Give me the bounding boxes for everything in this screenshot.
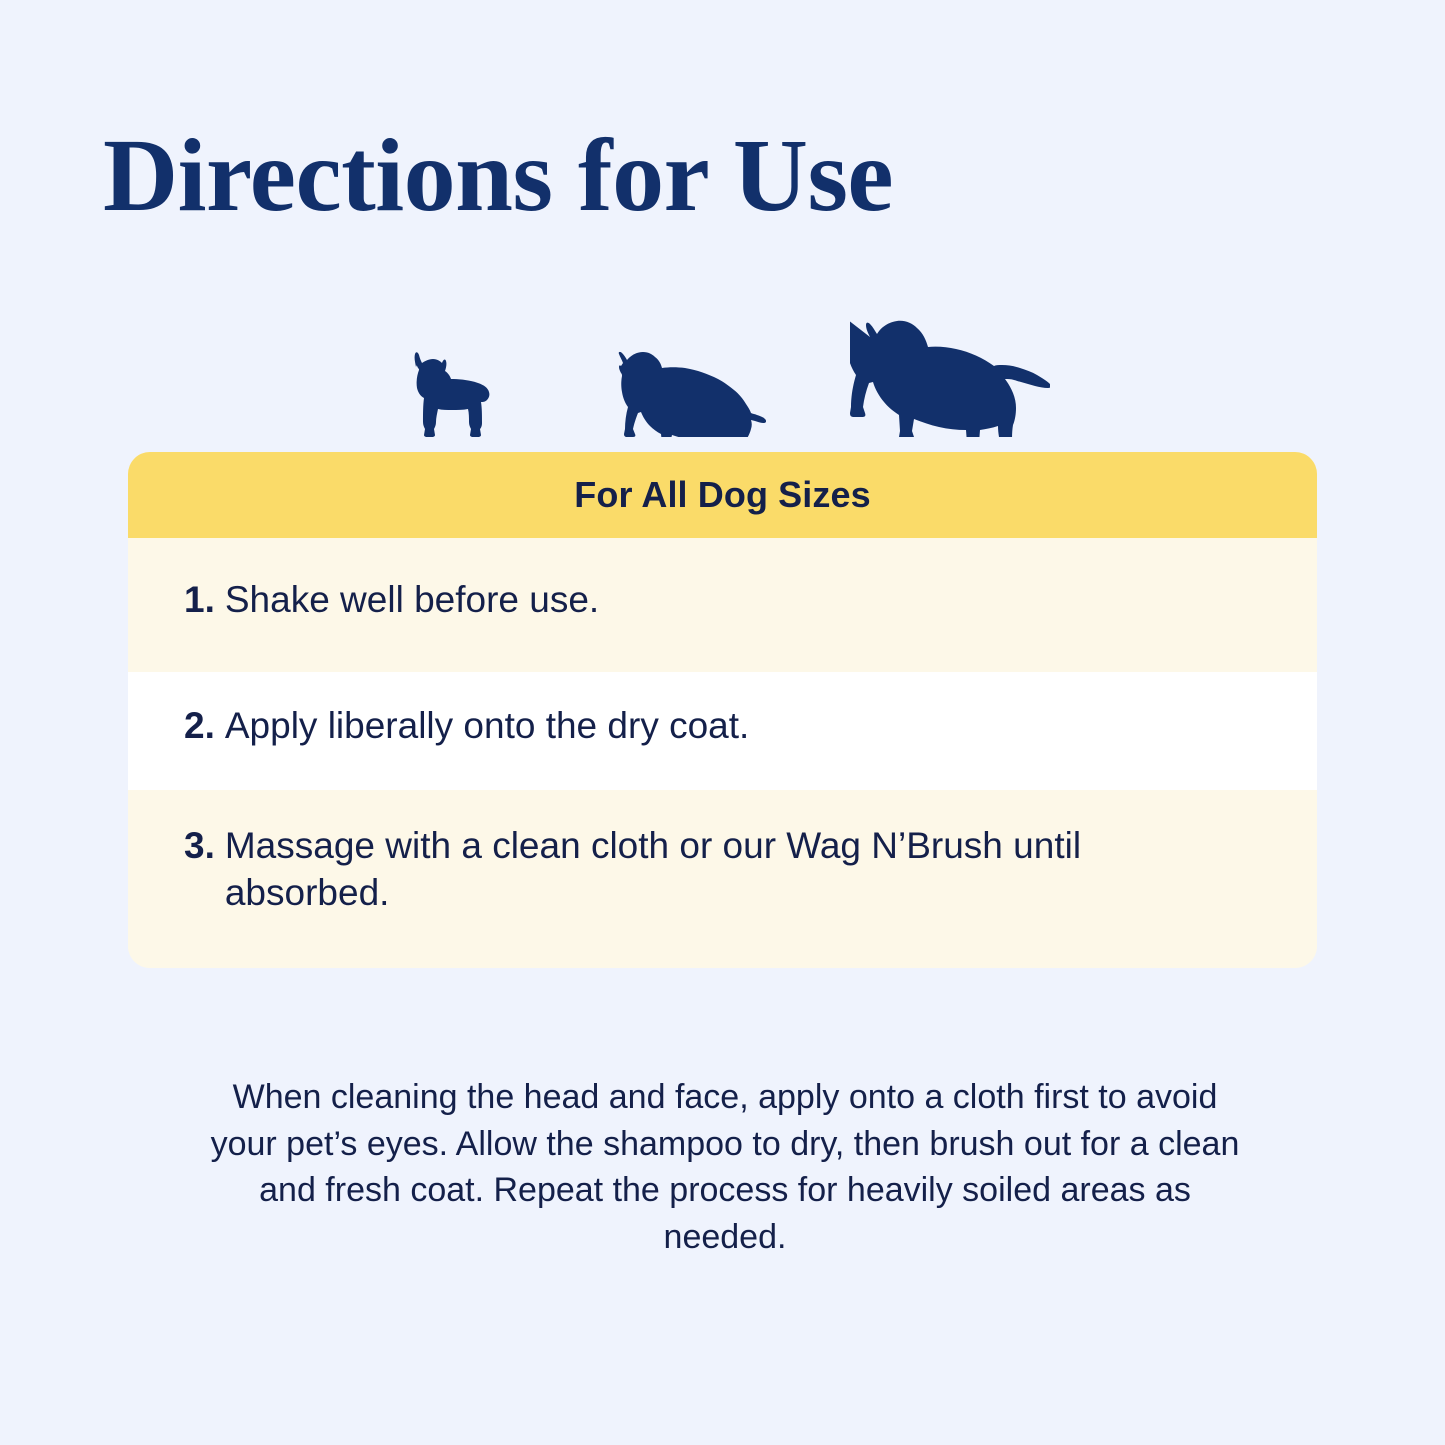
step-number-2: 2. bbox=[184, 702, 215, 749]
step-text-1: Shake well before use. bbox=[225, 576, 1235, 623]
instructions-card: For All Dog Sizes 1. Shake well before u… bbox=[128, 452, 1317, 968]
small-dog-silhouette bbox=[394, 347, 498, 437]
instruction-step-3: 3. Massage with a clean cloth or our Wag… bbox=[128, 790, 1317, 968]
large-dog-silhouette bbox=[850, 309, 1050, 437]
instruction-step-1: 1. Shake well before use. bbox=[128, 538, 1317, 672]
dog-size-illustrations bbox=[128, 292, 1317, 437]
page-title: Directions for Use bbox=[103, 121, 1343, 230]
card-header: For All Dog Sizes bbox=[128, 452, 1317, 538]
step-number-3: 3. bbox=[184, 822, 215, 869]
step-number-1: 1. bbox=[184, 576, 215, 623]
footer-note: When cleaning the head and face, apply o… bbox=[195, 1074, 1255, 1260]
step-text-3: Massage with a clean cloth or our Wag N’… bbox=[225, 822, 1235, 917]
medium-dog-silhouette bbox=[611, 341, 766, 437]
instruction-step-2: 2. Apply liberally onto the dry coat. bbox=[128, 672, 1317, 790]
card-header-title: For All Dog Sizes bbox=[574, 474, 870, 516]
step-text-2: Apply liberally onto the dry coat. bbox=[225, 702, 1235, 749]
directions-for-use-panel: Directions for Use For All Dog Sizes 1. … bbox=[0, 0, 1445, 1445]
